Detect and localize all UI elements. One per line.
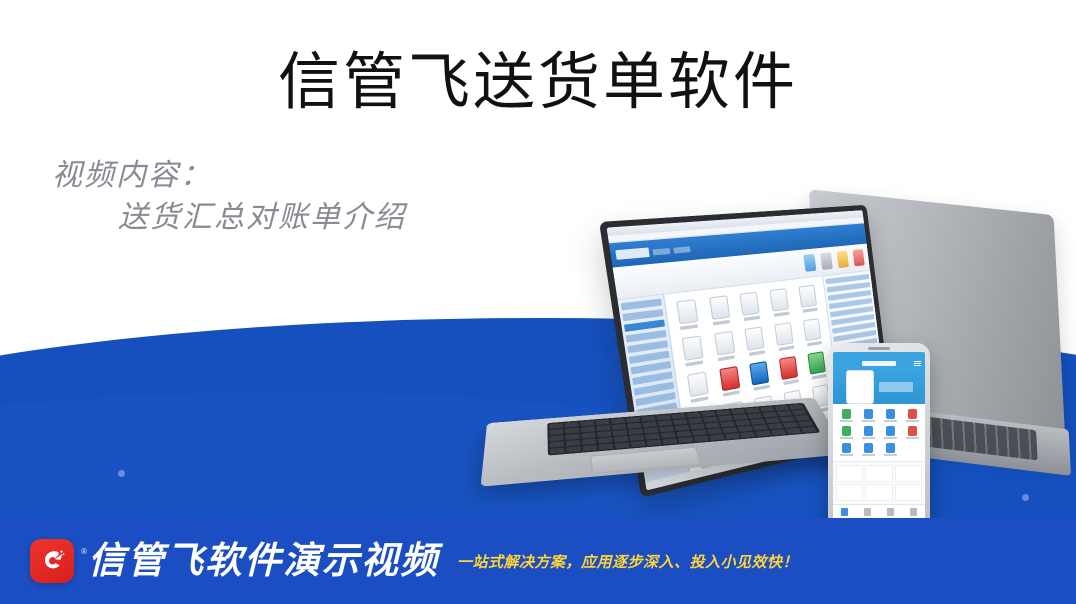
brand-title-text: 信管飞软件演示视频 [88, 540, 439, 581]
tab-home-icon [841, 508, 848, 516]
sidebar-item [621, 299, 662, 311]
mobile-tabbar [833, 504, 925, 519]
toolbar-icon [853, 249, 865, 266]
bottom-banner: ® 信管飞软件演示视频 一站式解决方案，应用逐步深入、投入小见效快！ [0, 518, 1076, 604]
function-tile [745, 360, 774, 392]
toolbar-icon [837, 251, 850, 269]
app-band-chip [673, 246, 691, 253]
phone-screen [833, 352, 925, 519]
function-tile [671, 299, 703, 331]
presentation-slide: 信管飞送货单软件 视频内容： 送货汇总对账单介绍 [0, 0, 1076, 604]
mobile-function-tile [858, 409, 878, 422]
decorative-dot [118, 470, 125, 477]
function-tile [682, 371, 714, 404]
banner-tagline: 一站式解决方案，应用逐步深入、投入小见效快！ [457, 551, 798, 572]
function-tile [704, 295, 735, 326]
stat-cell [836, 465, 863, 482]
function-tile [736, 291, 766, 322]
toolbar-icon [803, 254, 816, 272]
xinguanfei-logo-icon [30, 539, 74, 583]
function-tile [766, 288, 794, 318]
stat-cell [836, 484, 863, 501]
subtitle-block: 视频内容： 送货汇总对账单介绍 [52, 155, 406, 239]
function-tile [677, 335, 709, 368]
app-band-chip [652, 247, 670, 254]
mobile-function-tile [836, 443, 856, 456]
mobile-function-tile [858, 443, 878, 456]
device-mockup-group [470, 195, 1076, 525]
brand-title: ® 信管飞软件演示视频 [88, 539, 439, 583]
mobile-stats-panel [833, 461, 925, 504]
function-tile [794, 284, 821, 313]
mobile-function-tile [858, 426, 878, 439]
registered-mark: ® [81, 530, 89, 574]
mobile-function-tile [880, 409, 900, 422]
mobile-function-tile [902, 426, 922, 439]
subtitle-label: 视频内容： [52, 155, 406, 197]
stat-cell [865, 484, 892, 501]
function-tile [741, 326, 770, 357]
function-tile [775, 355, 803, 386]
mobile-function-tile [880, 443, 900, 456]
function-tile [715, 365, 745, 397]
menu-icon [914, 361, 921, 366]
function-tile [709, 330, 740, 362]
function-tile [799, 317, 826, 347]
tab-profile-icon [910, 508, 917, 516]
mobile-app-header [833, 357, 925, 369]
mobile-function-grid [833, 404, 925, 461]
page-title: 信管飞送货单软件 [0, 48, 1076, 118]
stat-cell [865, 465, 892, 482]
tab-documents-icon [864, 508, 871, 516]
function-tile [770, 322, 798, 352]
mobile-app-title [862, 361, 896, 366]
banner-phone-illustration [846, 370, 874, 404]
mobile-function-tile [836, 409, 856, 422]
app-brand-mark [615, 247, 649, 259]
smartphone-with-mobile-app [828, 343, 930, 533]
stat-cell [895, 465, 922, 482]
mobile-app-banner [833, 369, 925, 404]
subtitle-topic: 送货汇总对账单介绍 [118, 197, 406, 239]
mobile-function-tile [880, 426, 900, 439]
mobile-function-tile [902, 409, 922, 422]
stat-cell [895, 484, 922, 501]
banner-text-block [879, 382, 913, 392]
toolbar-icon [820, 252, 833, 270]
function-tile [804, 350, 831, 380]
mobile-function-tile [836, 426, 856, 439]
tab-reports-icon [887, 508, 894, 516]
